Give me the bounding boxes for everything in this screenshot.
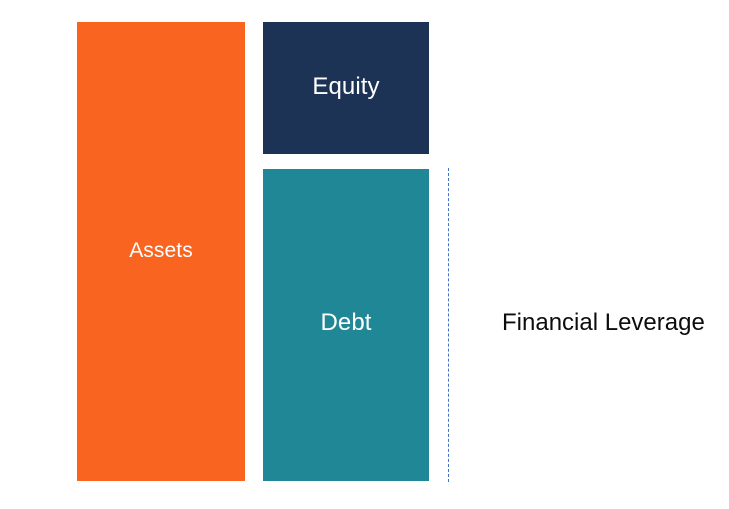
equity-bar-label: Equity (312, 75, 379, 99)
leverage-divider-line (448, 168, 449, 482)
assets-bar-label: Assets (129, 240, 193, 261)
assets-bar[interactable]: Assets (77, 22, 245, 481)
financial-leverage-diagram: Assets Equity Debt Financial Leverage (0, 0, 729, 509)
debt-bar[interactable]: Debt (263, 169, 429, 481)
debt-bar-label: Debt (263, 311, 429, 335)
financial-leverage-caption: Financial Leverage (502, 309, 705, 337)
equity-bar[interactable]: Equity (263, 22, 429, 154)
